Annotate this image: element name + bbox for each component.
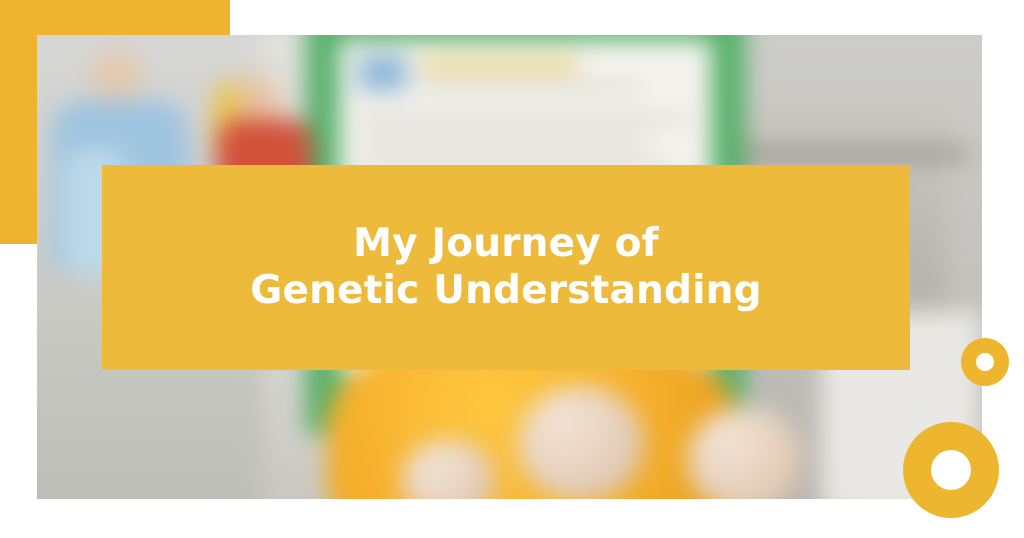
photo-paper-blue-mark <box>358 55 407 91</box>
photo-right-shelf-edge <box>724 146 968 161</box>
photo-paper-line <box>358 114 687 124</box>
photo-egg <box>517 386 644 499</box>
page-canvas: My Journey of Genetic Understanding <box>0 0 1024 538</box>
photo-paper-line <box>420 83 643 93</box>
photo-paper-line <box>358 138 644 148</box>
photo-paper-yellow-mark <box>420 59 579 72</box>
photo-person-head <box>91 51 142 102</box>
page-title: My Journey of Genetic Understanding <box>250 221 762 313</box>
title-banner: My Journey of Genetic Understanding <box>102 165 910 370</box>
ring-large-decoration <box>903 422 999 518</box>
ring-small-decoration <box>961 338 1009 386</box>
photo-person-head <box>237 76 282 121</box>
